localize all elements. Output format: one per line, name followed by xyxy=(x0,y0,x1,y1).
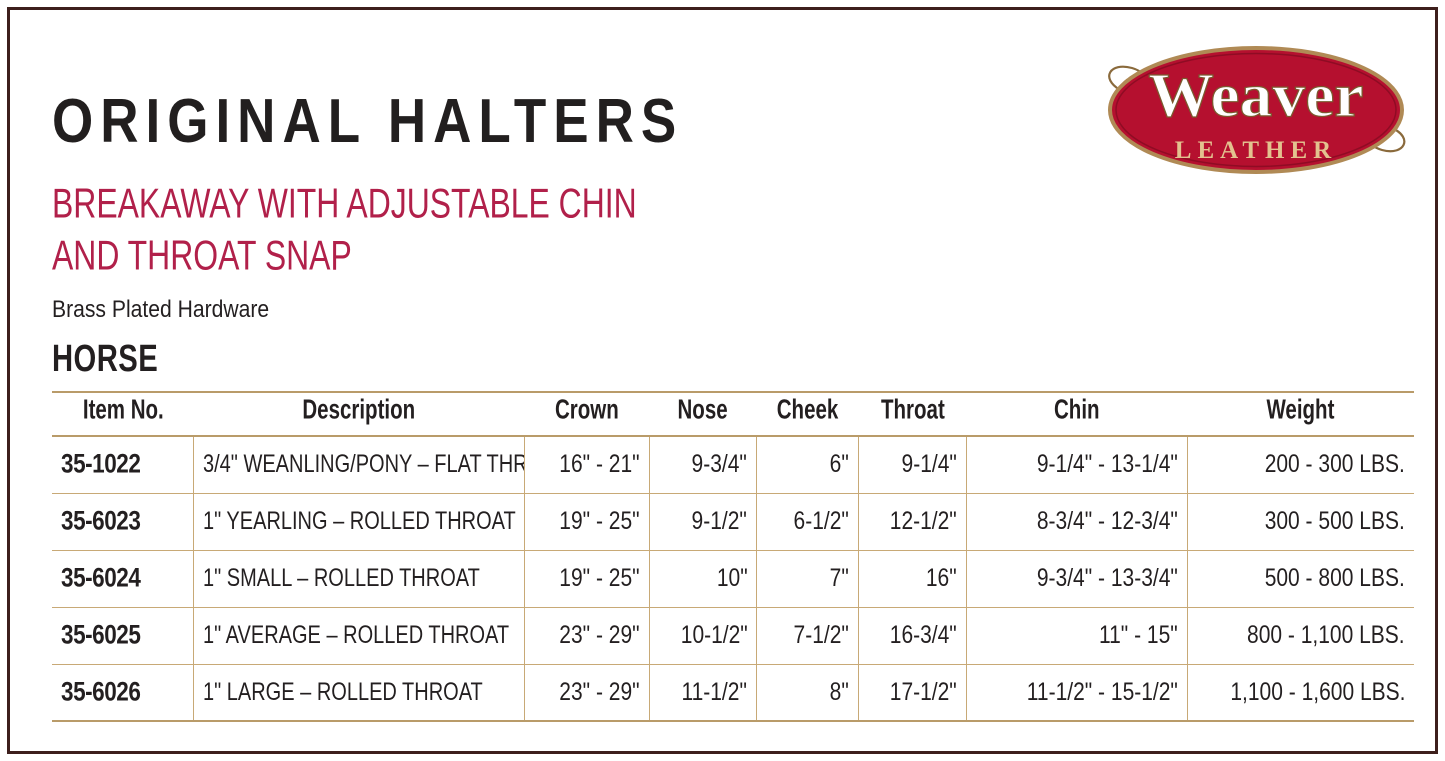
table-row: 35-1022 3/4" WEANLING/PONY – FLAT THROAT… xyxy=(52,436,1414,493)
weaver-leather-logo: Weaver LEATHER xyxy=(1080,32,1432,184)
product-subtitle-line-2: AND THROAT SNAP xyxy=(52,231,1196,283)
cell-nose: 11-1/2" xyxy=(649,664,757,721)
table-row: 35-6026 1" LARGE – ROLLED THROAT 23" - 2… xyxy=(52,664,1414,721)
cell-crown: 23" - 29" xyxy=(524,607,649,664)
species-heading: HORSE xyxy=(52,337,1223,381)
cell-cheek: 6" xyxy=(757,436,859,493)
table-row: 35-6023 1" YEARLING – ROLLED THROAT 19" … xyxy=(52,493,1414,550)
cell-item-no: 35-6024 xyxy=(52,550,194,607)
cell-nose: 9-3/4" xyxy=(649,436,757,493)
product-subtitle-line-1: BREAKAWAY WITH ADJUSTABLE CHIN xyxy=(52,179,1196,231)
cell-weight: 500 - 800 LBS. xyxy=(1187,550,1414,607)
decorative-frame: ORIGINAL HALTERS xyxy=(7,7,1438,754)
cell-description: 1" YEARLING – ROLLED THROAT xyxy=(194,493,525,550)
cell-chin: 9-3/4" - 13-3/4" xyxy=(966,550,1187,607)
cell-item-no: 35-6023 xyxy=(52,493,194,550)
cell-cheek: 7" xyxy=(757,550,859,607)
cell-chin: 11" - 15" xyxy=(966,607,1187,664)
cell-crown: 23" - 29" xyxy=(524,664,649,721)
spec-sheet-page: ORIGINAL HALTERS xyxy=(0,0,1445,761)
cell-item-no: 35-1022 xyxy=(52,436,194,493)
cell-chin: 8-3/4" - 12-3/4" xyxy=(966,493,1187,550)
cell-weight: 800 - 1,100 LBS. xyxy=(1187,607,1414,664)
cell-chin: 11-1/2" - 15-1/2" xyxy=(966,664,1187,721)
cell-weight: 200 - 300 LBS. xyxy=(1187,436,1414,493)
column-header-weight: Weight xyxy=(1187,392,1414,436)
cell-description: 1" AVERAGE – ROLLED THROAT xyxy=(194,607,525,664)
column-header-description: Description xyxy=(194,392,525,436)
product-subtitle: BREAKAWAY WITH ADJUSTABLE CHIN AND THROA… xyxy=(52,166,1196,283)
column-header-crown: Crown xyxy=(524,392,649,436)
cell-nose: 9-1/2" xyxy=(649,493,757,550)
table-header: Item No. Description Crown Nose Cheek Th… xyxy=(52,392,1414,436)
cell-nose: 10" xyxy=(649,550,757,607)
cell-crown: 19" - 25" xyxy=(524,493,649,550)
cell-chin: 9-1/4" - 13-1/4" xyxy=(966,436,1187,493)
cell-cheek: 8" xyxy=(757,664,859,721)
header-block: ORIGINAL HALTERS xyxy=(52,58,1414,166)
cell-weight: 300 - 500 LBS. xyxy=(1187,493,1414,550)
logo-tagline-text: LEATHER xyxy=(1175,137,1337,164)
table-row: 35-6025 1" AVERAGE – ROLLED THROAT 23" -… xyxy=(52,607,1414,664)
table-header-row: Item No. Description Crown Nose Cheek Th… xyxy=(52,392,1414,436)
cell-crown: 16" - 21" xyxy=(524,436,649,493)
cell-description: 3/4" WEANLING/PONY – FLAT THROAT xyxy=(194,436,525,493)
cell-throat: 9-1/4" xyxy=(859,436,967,493)
cell-description: 1" SMALL – ROLLED THROAT xyxy=(194,550,525,607)
table-row: 35-6024 1" SMALL – ROLLED THROAT 19" - 2… xyxy=(52,550,1414,607)
cell-description: 1" LARGE – ROLLED THROAT xyxy=(194,664,525,721)
cell-weight: 1,100 - 1,600 LBS. xyxy=(1187,664,1414,721)
cell-throat: 17-1/2" xyxy=(859,664,967,721)
cell-cheek: 6-1/2" xyxy=(757,493,859,550)
cell-crown: 19" - 25" xyxy=(524,550,649,607)
specifications-table: Item No. Description Crown Nose Cheek Th… xyxy=(52,391,1414,722)
cell-item-no: 35-6025 xyxy=(52,607,194,664)
column-header-chin: Chin xyxy=(966,392,1187,436)
cell-item-no: 35-6026 xyxy=(52,664,194,721)
column-header-item-no: Item No. xyxy=(52,392,194,436)
logo-svg: Weaver LEATHER xyxy=(1080,32,1432,184)
cell-cheek: 7-1/2" xyxy=(757,607,859,664)
logo-brand-text: Weaver xyxy=(1148,61,1363,130)
column-header-cheek: Cheek xyxy=(757,392,859,436)
content-area: ORIGINAL HALTERS xyxy=(52,58,1414,722)
cell-throat: 16" xyxy=(859,550,967,607)
cell-throat: 12-1/2" xyxy=(859,493,967,550)
hardware-note: Brass Plated Hardware xyxy=(52,296,1251,324)
column-header-nose: Nose xyxy=(649,392,757,436)
cell-nose: 10-1/2" xyxy=(649,607,757,664)
column-header-throat: Throat xyxy=(859,392,967,436)
table-body: 35-1022 3/4" WEANLING/PONY – FLAT THROAT… xyxy=(52,436,1414,721)
cell-throat: 16-3/4" xyxy=(859,607,967,664)
